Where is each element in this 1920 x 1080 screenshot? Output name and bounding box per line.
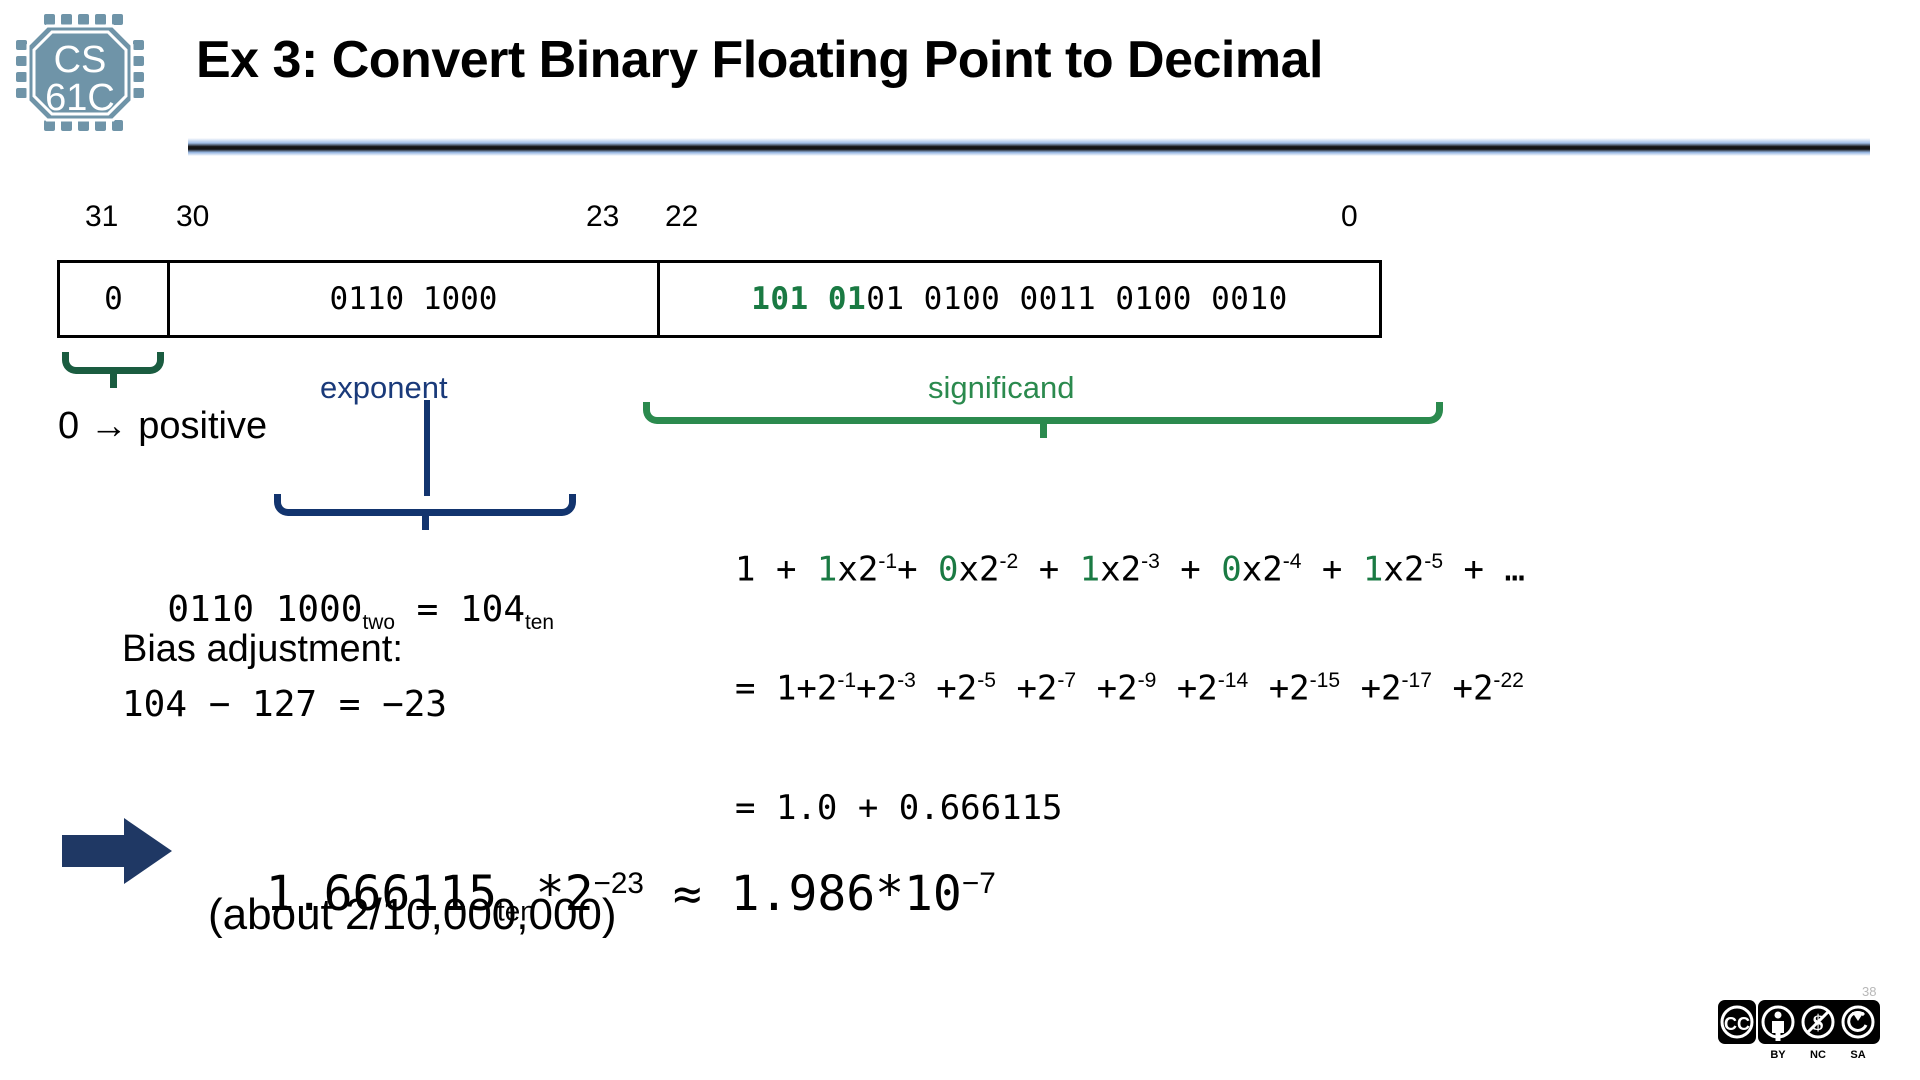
result-arrow-icon <box>62 818 172 884</box>
eq2-exponent-5: -14 <box>1218 669 1248 692</box>
eq1-token-18: x2 <box>1383 549 1424 589</box>
eq1-token-4: + <box>897 549 938 589</box>
cs61c-logo: CS 61C <box>14 12 146 134</box>
eq1-token-5: 0 <box>938 549 958 589</box>
eq1-token-17: 1 <box>1363 549 1383 589</box>
significand-bits-cell: 101 0101 0100 0011 0100 0010 <box>660 263 1379 335</box>
equals-sign: = <box>395 589 460 630</box>
bit-index-labels: 31 30 23 22 0 <box>0 200 1920 240</box>
eq1-token-19: -5 <box>1424 550 1443 573</box>
cc-label-nc: NC <box>1810 1049 1826 1061</box>
eq2-exponent-2: -5 <box>977 669 996 692</box>
bit-label-30: 30 <box>176 200 209 234</box>
result-approx-sign: ≈ <box>644 866 731 922</box>
significand-equation-line-1: 1 + 1x2-1+ 0x2-2 + 1x2-3 + 0x2-4 + 1x2-5… <box>735 550 1525 590</box>
eq2-exponent-4: -9 <box>1138 669 1157 692</box>
eq1-token-20: + … <box>1443 549 1525 589</box>
result-value: 1.986*10 <box>731 866 962 922</box>
slide-number: 38 <box>1862 984 1876 999</box>
significand-highlighted-bits: 101 01 <box>751 281 866 317</box>
logo-text-line2: 61C <box>45 77 115 119</box>
svg-text:CC: CC <box>1724 1014 1750 1034</box>
brace-bar <box>62 352 164 374</box>
title-divider <box>188 138 1870 156</box>
eq2-exponent-0: -1 <box>837 669 856 692</box>
creative-commons-badge: CC $ BY NC SA <box>1718 1000 1880 1062</box>
sign-field-brace <box>62 352 164 374</box>
result-value-exponent: −7 <box>962 867 996 900</box>
eq2-exponent-6: -15 <box>1310 669 1340 692</box>
exponent-bits-value: 0110 1000 <box>167 589 362 630</box>
slide-header: CS 61C Ex 3: Convert Binary Floating Poi… <box>0 0 1920 170</box>
eq2-exponent-8: -22 <box>1493 669 1523 692</box>
eq1-token-11: -3 <box>1141 550 1160 573</box>
bias-adjustment-heading: Bias adjustment: <box>122 628 403 671</box>
significand-equation-line-2: = 1+2-1+2-3 +2-5 +2-7 +2-9 +2-14 +2-15 +… <box>735 669 1525 709</box>
cc-label-by: BY <box>1770 1049 1786 1061</box>
brace-tick <box>422 516 429 530</box>
significand-expansion-equations: 1 + 1x2-1+ 0x2-2 + 1x2-3 + 0x2-4 + 1x2-5… <box>735 470 1525 868</box>
brace-bar <box>274 494 576 516</box>
exponent-decimal-value: 104 <box>460 589 525 630</box>
eq1-token-14: x2 <box>1242 549 1283 589</box>
eq2-plus-3: +2 <box>1076 668 1137 708</box>
exponent-bits-cell: 0110 1000 <box>170 263 660 335</box>
bit-label-22: 22 <box>665 200 698 234</box>
brace-tick <box>110 374 117 388</box>
exponent-brace-stem <box>424 400 430 496</box>
float32-bitfield-diagram: 0 0110 1000 101 0101 0100 0011 0100 0010 <box>57 260 1382 338</box>
eq2-exponent-7: -17 <box>1402 669 1432 692</box>
eq1-token-12: + <box>1160 549 1221 589</box>
sign-meaning-text: 0 → positive <box>58 405 267 448</box>
bias-adjustment-equation: 104 − 127 = −23 <box>122 684 447 725</box>
eq2-prefix: = 1+2 <box>735 668 837 708</box>
eq1-token-13: 0 <box>1221 549 1241 589</box>
bit-label-31: 31 <box>85 200 118 234</box>
eq1-token-2: x2 <box>837 549 878 589</box>
exponent-field-brace <box>274 494 576 516</box>
eq2-plus-5: +2 <box>1248 668 1309 708</box>
eq1-token-15: -4 <box>1283 550 1302 573</box>
eq2-plus-7: +2 <box>1432 668 1493 708</box>
eq2-exponent-3: -7 <box>1057 669 1076 692</box>
exponent-field-label: exponent <box>320 370 448 406</box>
logo-text-line1: CS <box>54 39 107 81</box>
eq2-plus-2: +2 <box>996 668 1057 708</box>
eq1-token-16: + <box>1301 549 1362 589</box>
eq1-token-10: x2 <box>1100 549 1141 589</box>
sign-bit-cell: 0 <box>60 263 170 335</box>
significand-field-label: significand <box>928 370 1074 406</box>
eq2-plus-1: +2 <box>916 668 977 708</box>
eq1-token-6: x2 <box>959 549 1000 589</box>
eq1-token-9: 1 <box>1080 549 1100 589</box>
exponent-value-equation: 0110 1000two = 104ten <box>124 548 554 635</box>
exponent-decimal-subscript: ten <box>525 611 554 634</box>
eq2-plus-0: +2 <box>856 668 897 708</box>
significand-remaining-bits: 01 0100 0011 0100 0010 <box>866 281 1288 317</box>
eq2-exponent-1: -3 <box>897 669 916 692</box>
eq1-token-3: -1 <box>878 550 897 573</box>
eq1-token-8: + <box>1018 549 1079 589</box>
eq2-plus-6: +2 <box>1340 668 1401 708</box>
cc-label-sa: SA <box>1850 1049 1865 1061</box>
eq1-token-7: -2 <box>999 550 1018 573</box>
eq2-plus-4: +2 <box>1156 668 1217 708</box>
eq1-token-1: 1 <box>817 549 837 589</box>
eq1-token-0: 1 + <box>735 549 817 589</box>
page-title: Ex 3: Convert Binary Floating Point to D… <box>196 30 1323 90</box>
bit-label-0: 0 <box>1341 200 1358 234</box>
brace-tick <box>1040 424 1047 438</box>
final-result-note: (about 2/10,000,000) <box>208 890 617 940</box>
bit-label-23: 23 <box>586 200 619 234</box>
